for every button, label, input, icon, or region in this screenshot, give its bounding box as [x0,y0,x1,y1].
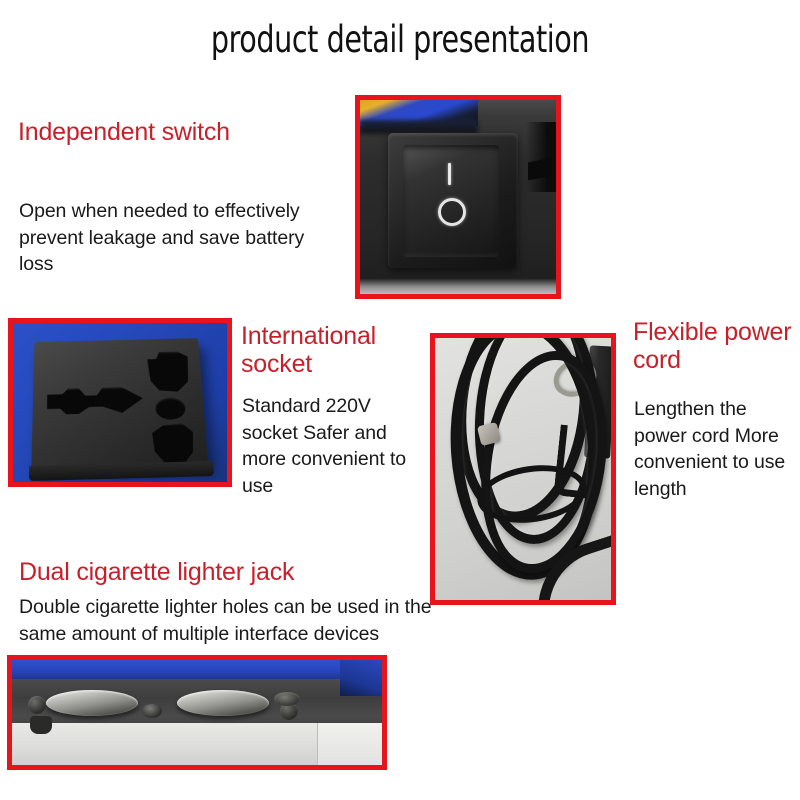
socket-hole-universal [47,387,144,415]
feature-body-flexible-power-cord: Lengthen the power cord More convenient … [634,396,800,502]
feature-body-independent-switch: Open when needed to effectively prevent … [19,198,339,278]
switch-photo-floor [360,278,556,294]
rocker-switch-photo-inner [360,100,556,294]
socket-hole-top-right [147,351,191,392]
lighter-foot-left [30,716,52,734]
international-socket-photo [8,318,232,487]
switch-housing-color-strip [360,100,478,126]
power-cord-photo-inner [435,338,611,600]
international-socket-photo-inner [13,323,227,482]
feature-body-dual-cigarette-lighter-jack: Double cigarette lighter holes can be us… [19,594,479,647]
dual-lighter-jack-photo [7,655,387,770]
feature-heading-independent-switch: Independent switch [18,118,338,146]
lighter-base-step [317,723,382,765]
socket-black-plate [31,338,208,469]
feature-heading-flexible-power-cord: Flexible power cord [633,318,800,375]
rocker-switch-photo [355,95,561,299]
lighter-blue-right-corner [340,660,382,696]
lighter-center-bump [142,704,162,718]
feature-body-international-socket: Standard 220V socket Safer and more conv… [242,393,417,499]
socket-hole-middle-round [155,397,186,420]
dual-lighter-jack-photo-inner [12,660,382,765]
lighter-screw-right-upper [274,692,300,706]
lighter-blue-top-strip [12,660,382,679]
page-title: product detail presentation [56,18,744,61]
switch-on-marking-icon [448,163,451,185]
lighter-socket-cover-right [177,690,269,716]
feature-heading-international-socket: International socket [241,322,421,379]
power-cord-photo [430,333,616,605]
feature-heading-dual-cigarette-lighter-jack: Dual cigarette lighter jack [19,558,439,586]
switch-off-marking-icon [438,198,466,226]
socket-hole-bottom-right [150,423,195,466]
lighter-socket-cover-left [46,690,138,716]
lighter-screw-left [28,696,46,714]
